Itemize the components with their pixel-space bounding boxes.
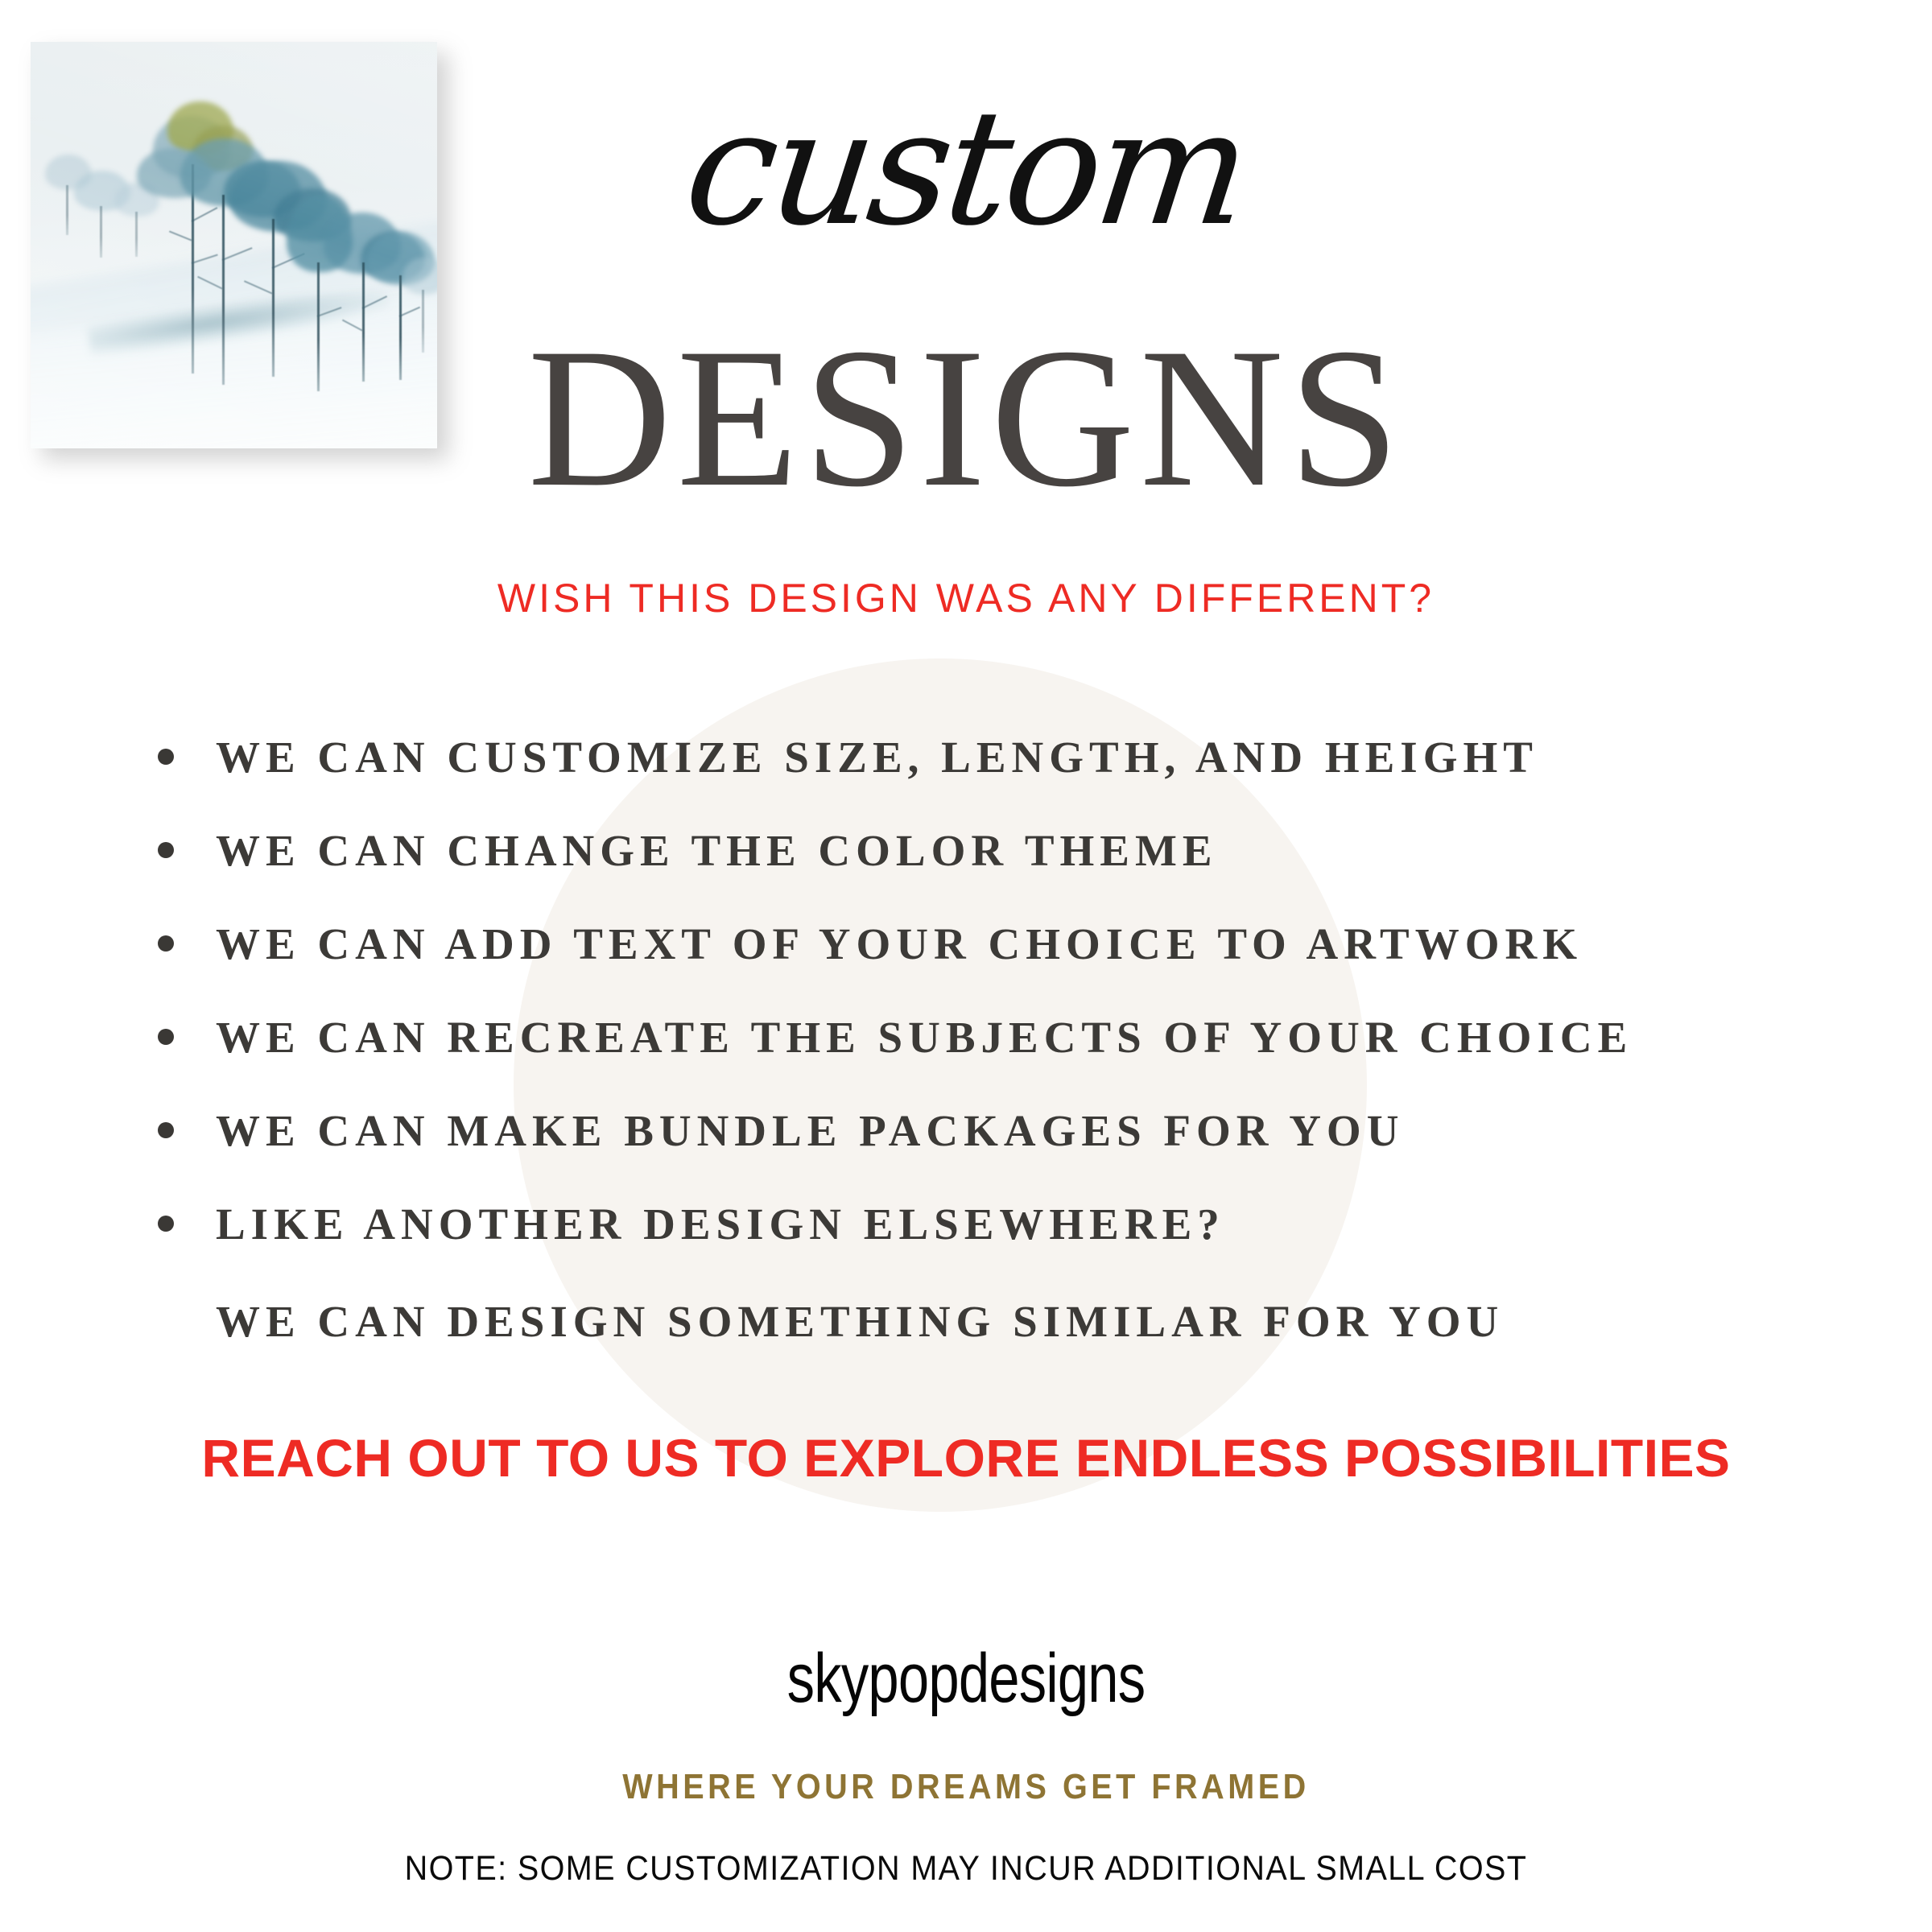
footer-note: NOTE: SOME CUSTOMIZATION MAY INCUR ADDIT… [77,1851,1855,1886]
bullet-dot-icon [158,1029,174,1045]
list-item: WE CAN ADD TEXT OF YOUR CHOICE TO ARTWOR… [158,897,1864,990]
call-to-action-text[interactable]: REACH OUT TO US TO EXPLORE ENDLESS POSSI… [0,1431,1932,1484]
list-item-label: WE CAN MAKE BUNDLE PACKAGES FOR YOU [216,1108,1404,1153]
page-title-designs: DESIGNS [0,318,1932,518]
capabilities-list: WE CAN CUSTOMIZE SIZE, LENGTH, AND HEIGH… [158,710,1864,1372]
list-item: WE CAN CUSTOMIZE SIZE, LENGTH, AND HEIGH… [158,710,1864,803]
brand-tagline: WHERE YOUR DREAMS GET FRAMED [97,1769,1835,1805]
list-item: LIKE ANOTHER DESIGN ELSEWHERE? [158,1177,1864,1270]
list-item-label: WE CAN CHANGE THE COLOR THEME [216,828,1218,873]
brand-name: skypopdesigns [193,1644,1739,1713]
bullet-dot-icon [158,935,174,952]
list-item: WE CAN MAKE BUNDLE PACKAGES FOR YOU [158,1084,1864,1177]
subtitle-question: WISH THIS DESIGN WAS ANY DIFFERENT? [0,578,1932,618]
list-item-label: WE CAN DESIGN SOMETHING SIMILAR FOR YOU [216,1299,1504,1344]
list-item: WE CAN CHANGE THE COLOR THEME [158,803,1864,897]
list-item: WE CAN RECREATE THE SUBJECTS OF YOUR CHO… [158,990,1864,1084]
bullet-dot-icon [158,749,174,765]
poster-canvas: custom DESIGNS WISH THIS DESIGN WAS ANY … [0,0,1932,1932]
script-heading-custom: custom [0,89,1932,248]
bullet-dot-icon [158,842,174,858]
bullet-dot-icon [158,1216,174,1232]
list-item-continuation: WE CAN DESIGN SOMETHING SIMILAR FOR YOU [158,1270,1864,1372]
bullet-dot-icon [158,1122,174,1138]
list-item-label: WE CAN RECREATE THE SUBJECTS OF YOUR CHO… [216,1015,1633,1059]
list-item-label: WE CAN CUSTOMIZE SIZE, LENGTH, AND HEIGH… [216,735,1538,779]
list-item-label: WE CAN ADD TEXT OF YOUR CHOICE TO ARTWOR… [216,922,1583,966]
list-item-label: LIKE ANOTHER DESIGN ELSEWHERE? [216,1202,1225,1246]
